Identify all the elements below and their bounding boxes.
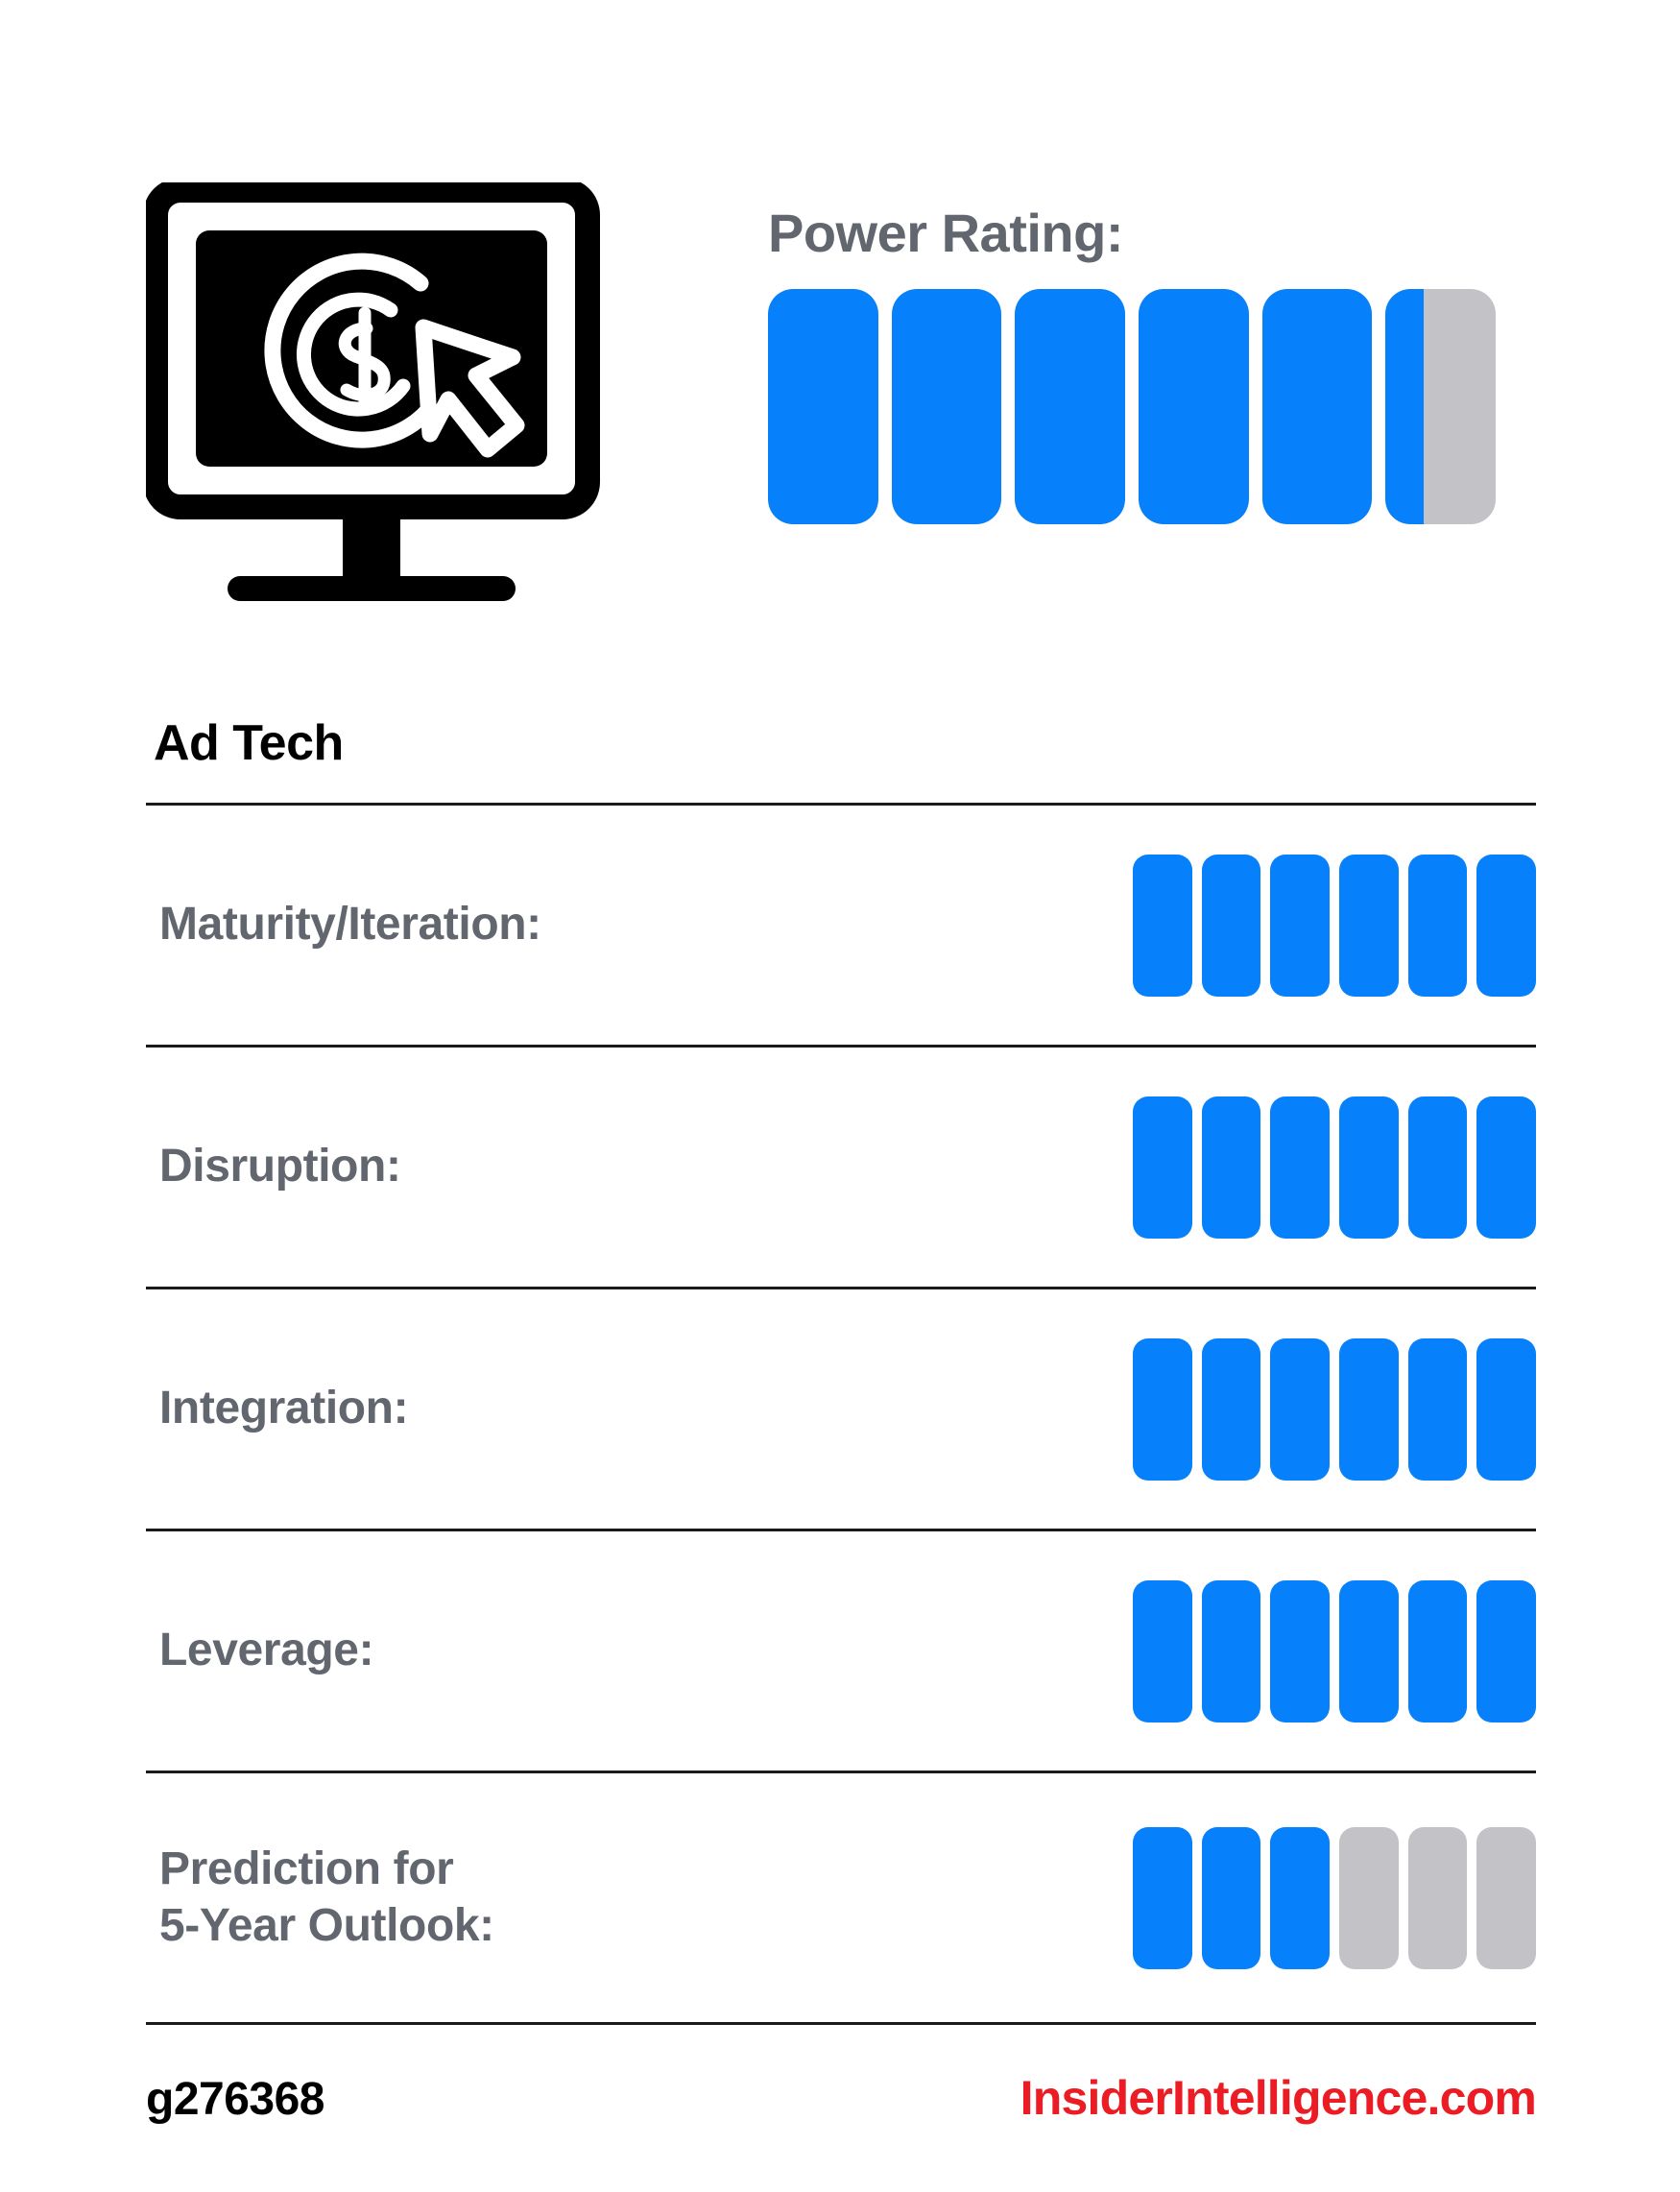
table-row: Prediction for 5-Year Outlook: [146, 1770, 1536, 2022]
power-rating-segment [1139, 289, 1249, 524]
rating-meter-leverage [1133, 1580, 1536, 1722]
rating-segment [1476, 1827, 1536, 1969]
power-rating-segment-fill [1262, 289, 1373, 524]
rating-table: Maturity/Iteration:Disruption:Integratio… [146, 803, 1536, 2025]
table-row: Integration: [146, 1287, 1536, 1529]
power-rating-segment [1385, 289, 1496, 524]
power-rating-meter [768, 289, 1496, 524]
rating-segment [1202, 1338, 1261, 1481]
power-rating-segment-fill [892, 289, 1002, 524]
rating-meter-disruption [1133, 1096, 1536, 1239]
table-row: Leverage: [146, 1529, 1536, 1770]
rating-segment [1270, 1580, 1330, 1722]
page-title: Ad Tech [154, 718, 344, 768]
power-rating-segment-fill [1385, 289, 1424, 524]
rating-segment [1339, 1338, 1399, 1481]
power-rating-segment [1015, 289, 1125, 524]
rating-segment [1133, 1338, 1192, 1481]
rating-segment [1408, 855, 1468, 997]
rating-segment [1133, 1580, 1192, 1722]
power-rating-label: Power Rating: [768, 206, 1536, 260]
rating-segment [1339, 1580, 1399, 1722]
rating-segment [1202, 1827, 1261, 1969]
rating-segment [1270, 1827, 1330, 1969]
table-row: Disruption: [146, 1045, 1536, 1287]
chart-id-code: g276368 [146, 2077, 324, 2123]
rating-meter-prediction-5-year-outlook [1133, 1827, 1536, 1969]
power-rating-segment-fill [768, 289, 878, 524]
footer: g276368 InsiderIntelligence.com [146, 2074, 1536, 2123]
rating-segment [1476, 1338, 1536, 1481]
brand-link[interactable]: InsiderIntelligence.com [1020, 2074, 1536, 2122]
row-label-maturity-iteration: Maturity/Iteration: [159, 897, 1133, 953]
rating-segment [1339, 855, 1399, 997]
rating-segment [1408, 1096, 1468, 1239]
table-row: Maturity/Iteration: [146, 803, 1536, 1045]
row-label-prediction-5-year-outlook: Prediction for 5-Year Outlook: [159, 1842, 1133, 1954]
monitor-dollar-click-icon [146, 182, 626, 653]
rating-segment [1270, 1338, 1330, 1481]
row-label-disruption: Disruption: [159, 1139, 1133, 1195]
rating-segment [1202, 1580, 1261, 1722]
power-rating-segment [1262, 289, 1373, 524]
infographic-card: Power Rating: Ad Tech Maturity/Iteration… [0, 0, 1680, 2192]
rating-segment [1476, 1096, 1536, 1239]
rating-segment [1339, 1827, 1399, 1969]
table-bottom-rule [146, 2022, 1536, 2025]
rating-segment [1408, 1580, 1468, 1722]
rating-segment [1133, 1096, 1192, 1239]
rating-segment [1476, 855, 1536, 997]
row-label-leverage: Leverage: [159, 1623, 1133, 1679]
rating-segment [1408, 1338, 1468, 1481]
rating-segment [1133, 855, 1192, 997]
power-rating-segment [892, 289, 1002, 524]
power-rating-segment [768, 289, 878, 524]
power-rating-segment-fill [1015, 289, 1125, 524]
rating-segment [1202, 855, 1261, 997]
header: Power Rating: [0, 0, 1680, 701]
rating-meter-integration [1133, 1338, 1536, 1481]
rating-segment [1476, 1580, 1536, 1722]
rating-meter-maturity-iteration [1133, 855, 1536, 997]
rating-segment [1339, 1096, 1399, 1239]
rating-segment [1270, 855, 1330, 997]
power-rating-segment-fill [1139, 289, 1249, 524]
rating-segment [1270, 1096, 1330, 1239]
rating-segment [1133, 1827, 1192, 1969]
row-label-integration: Integration: [159, 1381, 1133, 1437]
power-rating-block: Power Rating: [768, 206, 1536, 524]
rating-segment [1202, 1096, 1261, 1239]
rating-segment [1408, 1827, 1468, 1969]
